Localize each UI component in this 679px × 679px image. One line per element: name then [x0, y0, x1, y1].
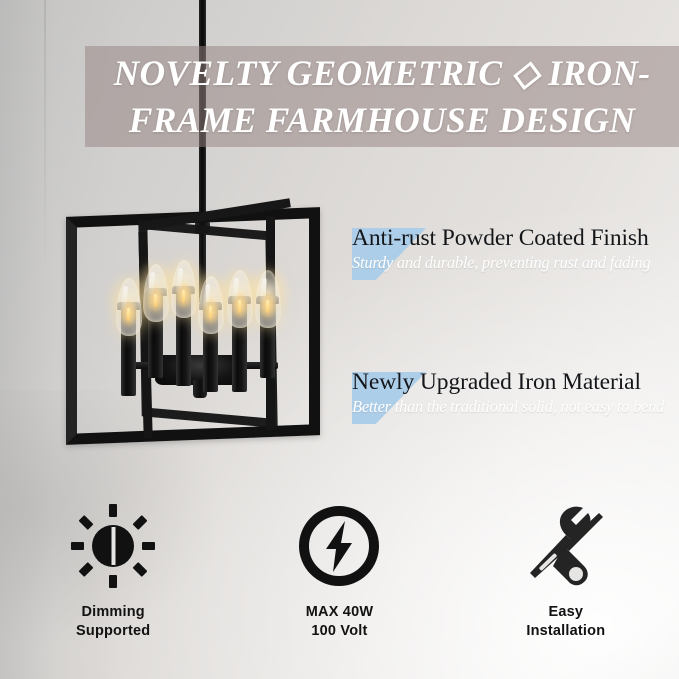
spec-badge-dimming: Dimming Supported — [0, 500, 226, 679]
brightness-dimming-icon — [69, 500, 157, 592]
feature-block-2: Newly Upgraded Iron Material Better than… — [352, 368, 679, 418]
feature-title-1: Anti-rust Powder Coated Finish — [352, 224, 679, 252]
spec-badge-label-installation: Easy Installation — [526, 603, 605, 641]
headline-banner: NOVELTY GEOMETRIC ◇ IRON- FRAME FARMHOUS… — [85, 46, 679, 147]
lightning-bolt-power-icon — [295, 500, 383, 592]
spec-badge-label-power: MAX 40W 100 Volt — [306, 603, 373, 641]
feature-subtitle-2: Better than the traditional solid, not e… — [352, 396, 679, 418]
feature-subtitle-1: Sturdy and durable, preventing rust and … — [352, 252, 679, 274]
headline-text: NOVELTY GEOMETRIC ◇ IRON- FRAME FARMHOUS… — [106, 50, 659, 144]
spec-badge-row: Dimming Supported MAX 40W 100 Volt — [0, 500, 679, 679]
product-feature-image: NOVELTY GEOMETRIC ◇ IRON- FRAME FARMHOUS… — [0, 0, 679, 679]
pliers-screwdriver-tools-icon — [522, 500, 610, 592]
feature-title-2: Newly Upgraded Iron Material — [352, 368, 679, 396]
spec-badge-label-dimming: Dimming Supported — [76, 603, 150, 641]
spec-badge-power: MAX 40W 100 Volt — [226, 500, 452, 679]
spec-badge-installation: Easy Installation — [453, 500, 679, 679]
feature-block-1: Anti-rust Powder Coated Finish Sturdy an… — [352, 224, 679, 274]
